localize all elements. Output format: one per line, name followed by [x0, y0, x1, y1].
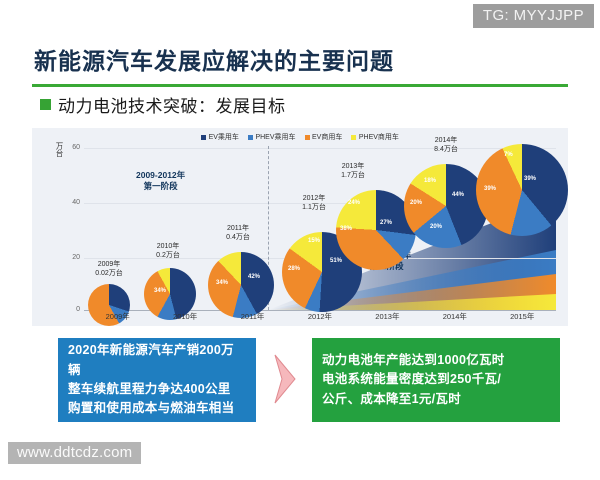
legend-label: PHEV乘用车 [255, 132, 295, 142]
chart-inner: EV乘用车 PHEV乘用车 EV商用车 PHEV商用车 万台 60 40 [32, 128, 568, 326]
telegram-watermark: TG: MYYJJPP [473, 4, 594, 28]
pie-2014-slice-label: 20% [430, 224, 442, 230]
goal-line: 电池系统能量密度达到250千瓦/ [322, 370, 550, 389]
subtitle-text: 动力电池技术突破：发展目标 [58, 92, 286, 117]
pie-2012-slice-label: 28% [288, 266, 300, 272]
legend-item-ev-commercial: EV商用车 [305, 132, 343, 142]
pie-label-year: 2013年 [310, 162, 396, 171]
goal-box-battery: 动力电池年产能达到1000亿瓦时 电池系统能量密度达到250千瓦/ 公斤、成本降… [312, 338, 560, 422]
pie-2014-slice-label: 20% [410, 200, 422, 206]
goal-line: 购置和使用成本与燃油车相当 [68, 399, 246, 418]
pie-label-total: 1.7万台 [310, 171, 396, 180]
chevron-right-icon [268, 350, 302, 408]
legend-swatch-icon [248, 135, 253, 140]
y-tick-40: 40 [66, 199, 80, 206]
pie-label-total: 0.02万台 [70, 269, 148, 278]
pie-2014-slice-label: 18% [424, 178, 436, 184]
x-tick-2012: 2012年 [286, 311, 353, 325]
legend-swatch-icon [305, 135, 310, 140]
pie-2013-slice-label: 24% [348, 200, 360, 206]
pie-label-2014: 2014年 8.4万台 [402, 136, 490, 154]
y-tick-0: 0 [66, 306, 80, 313]
pie-2013-slice-label: 38% [340, 226, 352, 232]
pie-label-total: 0.2万台 [128, 251, 208, 260]
pie-label-year: 2009年 [70, 260, 148, 269]
goal-line: 动力电池年产能达到1000亿瓦时 [322, 351, 550, 370]
title-divider [32, 84, 568, 87]
pie-2012-slice-label: 15% [308, 238, 320, 244]
site-watermark: www.ddtcdz.com [8, 442, 141, 464]
legend-item-phev-commercial: PHEV商用车 [351, 132, 399, 142]
slide-root: TG: MYYJJPP 新能源汽车发展应解决的主要问题 动力电池技术突破：发展目… [0, 0, 600, 480]
annotation-line: 2009-2012年 [136, 170, 185, 181]
legend-label: PHEV商用车 [359, 132, 399, 142]
x-tick-2010: 2010年 [151, 311, 218, 325]
legend-item-phev-passenger: PHEV乘用车 [248, 132, 296, 142]
goal-box-vehicles: 2020年新能源汽车产销200万辆 整车续航里程力争达400公里 购置和使用成本… [58, 338, 256, 422]
annotation-phase-1: 2009-2012年 第一阶段 [136, 170, 185, 193]
subtitle-row: 动力电池技术突破：发展目标 [40, 92, 286, 117]
pie-2015-slice-label: 7% [504, 152, 513, 158]
legend-item-ev-passenger: EV乘用车 [201, 132, 239, 142]
pie-label-total: 8.4万台 [402, 145, 490, 154]
pie-2010-slice-label: 34% [154, 288, 166, 294]
legend-swatch-icon [351, 135, 356, 140]
pie-2014-slice-label: 44% [452, 192, 464, 198]
legend-label: EV乘用车 [209, 132, 239, 142]
x-axis-labels: 2009年 2010年 2011年 2012年 2013年 2014年 2015… [84, 311, 556, 325]
y-axis-title: 万台 [54, 142, 65, 157]
pie-2011-slice-label: 34% [216, 280, 228, 286]
pie-label-2010: 2010年 0.2万台 [128, 242, 208, 260]
goal-line: 2020年新能源汽车产销200万辆 [68, 341, 246, 380]
pie-label-year: 2010年 [128, 242, 208, 251]
pie-2015-slice-label: 39% [524, 176, 536, 182]
y-tick-60: 60 [66, 144, 80, 151]
x-tick-2011: 2011年 [219, 311, 286, 325]
pie-2015-slice-label: 39% [484, 186, 496, 192]
x-tick-2015: 2015年 [489, 311, 556, 325]
legend-label: EV商用车 [312, 132, 342, 142]
pie-label-year: 2012年 [270, 194, 358, 203]
x-tick-2013: 2013年 [354, 311, 421, 325]
legend-swatch-icon [201, 135, 206, 140]
pie-label-year: 2014年 [402, 136, 490, 145]
pie-2011-slice-label: 42% [248, 274, 260, 280]
square-bullet-icon [40, 99, 51, 110]
chart-panel: EV乘用车 PHEV乘用车 EV商用车 PHEV商用车 万台 60 40 [32, 128, 568, 326]
goal-line: 整车续航里程力争达400公里 [68, 380, 246, 399]
pie-label-total: 0.4万台 [196, 233, 280, 242]
pie-label-2009: 2009年 0.02万台 [70, 260, 148, 278]
pie-2013-slice-label: 27% [380, 220, 392, 226]
pie-label-year: 2011年 [196, 224, 280, 233]
pie-label-2011: 2011年 0.4万台 [196, 224, 280, 242]
x-tick-2014: 2014年 [421, 311, 488, 325]
goal-line: 公斤、成本降至1元/瓦时 [322, 390, 550, 409]
pie-label-2013: 2013年 1.7万台 [310, 162, 396, 180]
pie-2014 [404, 164, 488, 248]
page-title: 新能源汽车发展应解决的主要问题 [34, 42, 394, 76]
x-tick-2009: 2009年 [84, 311, 151, 325]
annotation-line: 第一阶段 [136, 181, 185, 192]
pie-2012-slice-label: 51% [330, 258, 342, 264]
